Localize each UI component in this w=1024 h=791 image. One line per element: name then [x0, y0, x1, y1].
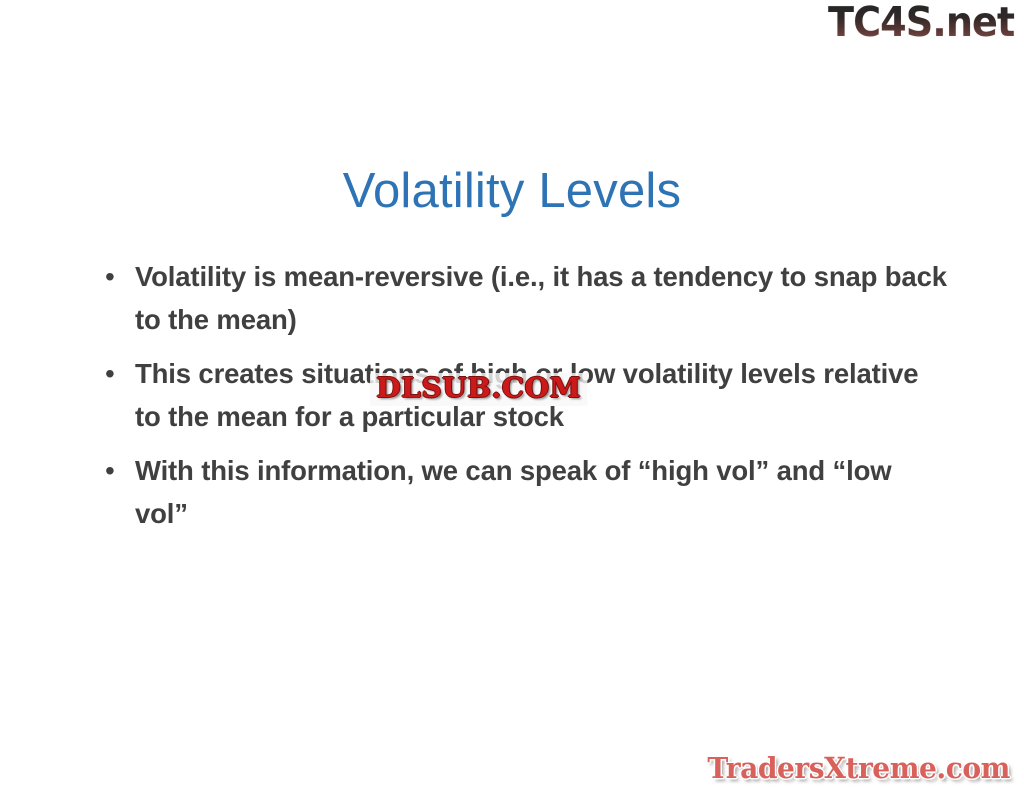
bullet-point-icon: • [100, 449, 135, 492]
page-title: Volatility Levels [0, 164, 1024, 219]
tc4s-watermark: TC4S.net [828, 2, 1014, 43]
presentation-slide: TC4S.net Volatility Levels • Volatility … [0, 0, 1024, 791]
bullet-point-icon: • [100, 255, 135, 298]
bullet-text: With this information, we can speak of “… [135, 449, 950, 535]
bullet-point-icon: • [100, 352, 135, 395]
list-item: • With this information, we can speak of… [100, 449, 950, 535]
bullet-text: Volatility is mean-reversive (i.e., it h… [135, 255, 950, 341]
list-item: • Volatility is mean-reversive (i.e., it… [100, 255, 950, 341]
tradersxtreme-watermark: TradersXtreme.com [707, 751, 1010, 785]
dlsub-watermark: DLSUB.COM [370, 373, 587, 406]
